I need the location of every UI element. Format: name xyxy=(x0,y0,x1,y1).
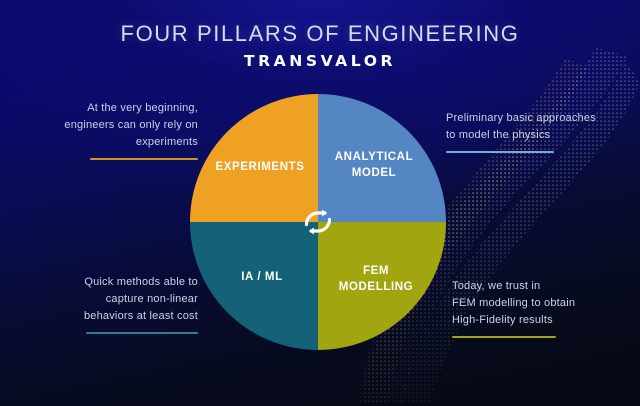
callout-iaml-line1: Quick methods able to xyxy=(44,274,198,291)
callout-analytical-line2: to model the physics xyxy=(446,127,618,144)
callout-fem-rule xyxy=(452,336,556,338)
callout-fem-line2: FEM modelling to obtain xyxy=(452,295,622,312)
fem-label-line2: MODELLING xyxy=(339,281,413,293)
callout-iaml-line3: behaviors at least cost xyxy=(44,308,198,325)
cycle-refresh-icon xyxy=(298,202,338,242)
callout-fem-line1: Today, we trust in xyxy=(452,278,622,295)
analytical-label-line2: MODEL xyxy=(352,167,397,179)
page-title: FOUR PILLARS OF ENGINEERING xyxy=(0,22,640,46)
fem-label-line1: FEM xyxy=(363,265,389,277)
callout-analytical-line1: Preliminary basic approaches xyxy=(446,110,618,127)
brand-logo: TRANSVALOR xyxy=(0,52,640,70)
callout-experiments-line3: experiments xyxy=(40,134,198,151)
callout-ia-ml: Quick methods able to capture non-linear… xyxy=(44,274,198,334)
callout-fem-modelling: Today, we trust in FEM modelling to obta… xyxy=(452,278,622,338)
callout-experiments-line1: At the very beginning, xyxy=(40,100,198,117)
callout-fem-line3: High-Fidelity results xyxy=(452,312,622,329)
pie-segment-ia-ml-label: IA / ML xyxy=(207,270,317,286)
callout-iaml-rule xyxy=(86,332,198,334)
callout-analytical-model: Preliminary basic approaches to model th… xyxy=(446,110,618,153)
pie-segment-experiments-label: EXPERIMENTS xyxy=(205,160,315,176)
callout-experiments: At the very beginning, engineers can onl… xyxy=(40,100,198,160)
slide-canvas: FOUR PILLARS OF ENGINEERING TRANSVALOR E… xyxy=(0,0,640,406)
callout-analytical-rule xyxy=(446,151,554,153)
callout-experiments-line2: engineers can only rely on xyxy=(40,117,198,134)
pie-segment-fem-modelling-label: FEM MODELLING xyxy=(321,264,431,295)
title-block: FOUR PILLARS OF ENGINEERING TRANSVALOR xyxy=(0,22,640,70)
callout-iaml-line2: capture non-linear xyxy=(44,291,198,308)
pie-segment-analytical-model-label: ANALYTICAL MODEL xyxy=(319,150,429,181)
callout-experiments-rule xyxy=(90,158,198,160)
analytical-label-line1: ANALYTICAL xyxy=(335,151,413,163)
four-pillars-pie-chart: EXPERIMENTS ANALYTICAL MODEL IA / ML FEM… xyxy=(190,94,446,350)
